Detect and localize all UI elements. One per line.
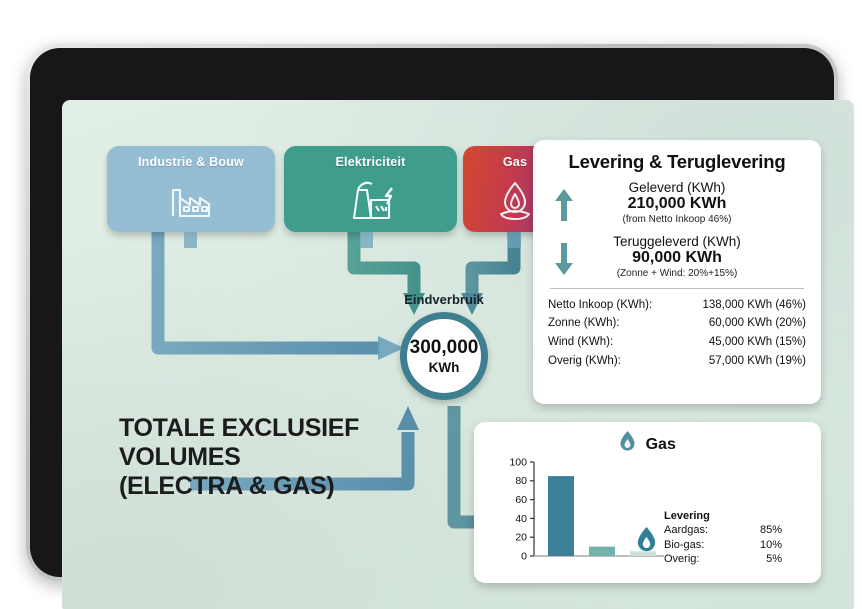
breakdown-row: Overig (KWh): 57,000 KWh (19%) [548,352,806,371]
bar-bio-gas [589,547,615,556]
breakdown-row: Wind (KWh): 45,000 KWh (15%) [548,333,806,352]
card-stem-industrie [184,232,197,248]
breakdown-label: Netto Inkoop (KWh): [548,296,652,315]
card-stem-gas [508,232,521,248]
tablet-screen: Industrie & Bouw Elektriciteit [62,100,854,609]
flame-icon [636,527,657,556]
page-title-line1: TOTALE EXCLUSIEF [119,414,419,443]
factory-icon [107,176,275,225]
y-axis-tick-label: 80 [515,475,527,487]
gas-panel: Gas 020406080100 [474,422,821,583]
levering-teruggeleverd-label: Teruggeleverd (KWh) [548,234,806,249]
bar-aardgas [548,476,574,556]
card-industrie-label: Industrie & Bouw [107,155,275,169]
tablet-device: Industrie & Bouw Elektriciteit [26,44,838,581]
screenshot-root: Industrie & Bouw Elektriciteit [0,0,862,609]
y-axis-tick-label: 60 [515,494,527,506]
arrow-up-icon [554,188,574,227]
breakdown-value: 138,000 KWh (46%) [702,296,806,315]
breakdown-label: Wind (KWh): [548,333,613,352]
y-axis-tick-label: 20 [515,532,527,544]
card-elektriciteit[interactable]: Elektriciteit [284,146,457,232]
panel-divider [550,288,804,289]
levering-geleverd-label: Geleverd (KWh) [548,180,806,195]
gas-bar-chart: 020406080100 [488,456,668,574]
breakdown-label: Zonne (KWh): [548,314,620,333]
hub-label: Eindverbruik [374,292,514,307]
breakdown-value: 60,000 KWh (20%) [709,314,806,333]
legend-row: Aardgas: 85% [664,523,782,538]
legend-label: Overig: [664,552,699,567]
y-axis-tick-label: 100 [509,456,527,468]
legend-label: Bio-gas: [664,538,704,553]
flame-icon [619,431,636,452]
page-title-line3: (ELECTRA & GAS) [119,472,419,501]
levering-teruggeleverd-note: (Zonne + Wind: 20%+15%) [548,268,806,279]
hub-value: 300,000 [410,338,479,357]
card-industrie-bouw[interactable]: Industrie & Bouw [107,146,275,232]
legend-value: 85% [760,523,782,538]
page-title: TOTALE EXCLUSIEF VOLUMES (ELECTRA & GAS) [119,414,419,501]
power-plant-icon [284,176,457,227]
breakdown-value: 57,000 KWh (19%) [709,352,806,371]
y-axis-tick-label: 0 [521,550,527,562]
levering-geleverd-note: (from Netto Inkoop 46%) [548,214,806,225]
levering-row-geleverd: Geleverd (KWh) 210,000 KWh (from Netto I… [548,180,806,225]
legend-row: Bio-gas: 10% [664,538,782,553]
page-title-line2: VOLUMES [119,443,419,472]
gas-panel-header: Gas [474,431,821,454]
levering-row-teruggeleverd: Teruggeleverd (KWh) 90,000 KWh (Zonne + … [548,234,806,279]
breakdown-value: 45,000 KWh (15%) [709,333,806,352]
breakdown-row: Netto Inkoop (KWh): 138,000 KWh (46%) [548,296,806,315]
levering-panel-title: Levering & Teruglevering [548,151,806,173]
legend-label: Aardgas: [664,523,708,538]
gas-panel-title: Gas [646,436,676,453]
legend-row: Overig: 5% [664,552,782,567]
hub-unit: KWh [429,360,460,375]
card-stem-elektriciteit [360,232,373,248]
y-axis-tick-label: 40 [515,513,527,525]
levering-panel: Levering & Teruglevering Geleverd (KWh) … [533,140,821,404]
levering-geleverd-value: 210,000 KWh [548,195,806,214]
breakdown-row: Zonne (KWh): 60,000 KWh (20%) [548,314,806,333]
gas-legend: Levering Aardgas: 85% Bio-gas: 10% Overi… [664,510,782,567]
arrow-down-icon [554,242,574,281]
legend-value: 10% [760,538,782,553]
breakdown-label: Overig (KWh): [548,352,621,371]
hub-total-consumption: 300,000 KWh [400,312,488,400]
levering-teruggeleverd-value: 90,000 KWh [548,249,806,268]
legend-title: Levering [664,510,782,522]
card-elektriciteit-label: Elektriciteit [284,155,457,169]
legend-value: 5% [766,552,782,567]
